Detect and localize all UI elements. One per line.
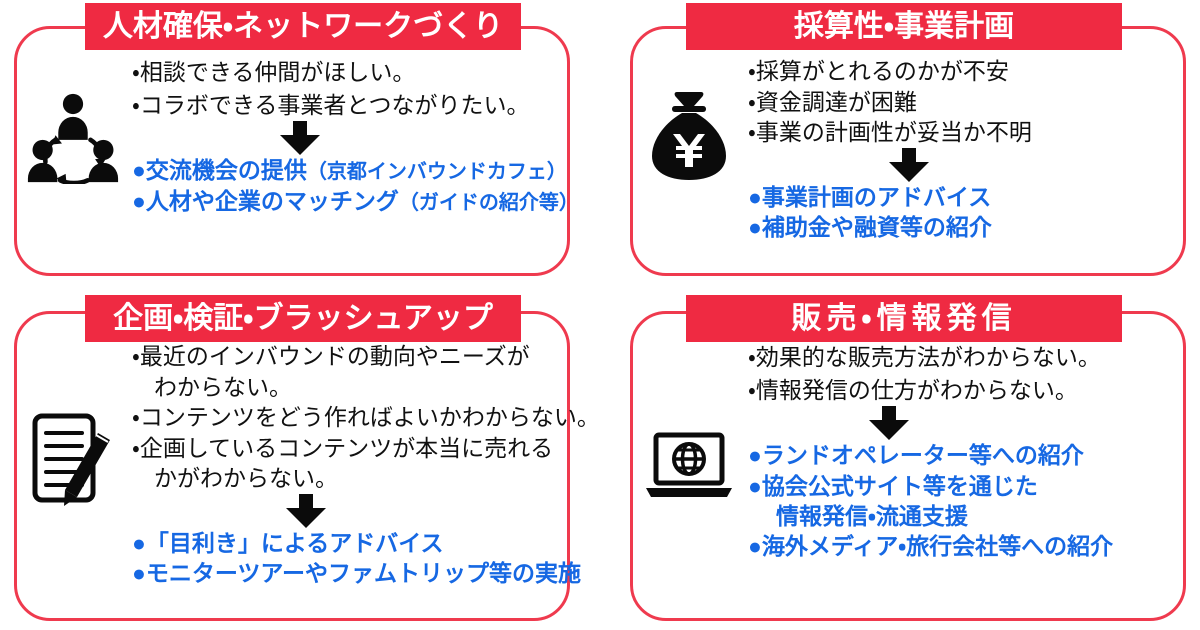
solution-main: ●「目利き」によるアドバイス xyxy=(132,530,444,556)
problem-list: ・効果的な販売方法がわからない。 ・情報発信の仕方がわからない。 xyxy=(748,341,1180,406)
panel-title-kikaku-kensho-brushup: 企画・検証・ブラッシュアップ xyxy=(85,295,521,342)
content-column: ・相談できる仲間がほしい。 ・コラボできる事業者とつながりたい。 ●交流機会の提… xyxy=(132,56,585,216)
panel-title-jinzai-network: 人材確保・ネットワークづくり xyxy=(85,3,521,50)
content-column: ・効果的な販売方法がわからない。 ・情報発信の仕方がわからない。 ●ランドオペレ… xyxy=(748,341,1186,562)
notepad-pencil-icon xyxy=(30,411,116,507)
solution-item: ●事業計画のアドバイス xyxy=(748,182,1180,212)
panel-body-hanbai-johohasshin: ・効果的な販売方法がわからない。 ・情報発信の仕方がわからない。 ●ランドオペレ… xyxy=(630,341,1186,562)
problem-item: ・企画しているコンテンツが本当に売れる xyxy=(132,433,600,464)
solution-item-continuation: 情報発信・流通支援 xyxy=(748,501,1180,531)
solution-list: ●交流機会の提供（京都インバウンドカフェ） ●人材や企業のマッチング（ガイドの紹… xyxy=(132,155,579,216)
solution-item: ●「目利き」によるアドバイス xyxy=(132,528,600,558)
problem-list: ・採算がとれるのかが不安 ・資金調達が困難 ・事業の計画性が妥当か不明 xyxy=(748,56,1180,148)
solution-list: ●「目利き」によるアドバイス ●モニターツアーやファムトリップ等の実施 xyxy=(132,528,600,589)
down-arrow-icon xyxy=(887,148,931,182)
solution-main: ●人材や企業のマッチング xyxy=(132,188,399,214)
problem-item: ・資金調達が困難 xyxy=(748,87,1180,118)
solution-main: 情報発信・流通支援 xyxy=(776,503,968,529)
problem-list: ・最近のインバウンドの動向やニーズが わからない。 ・コンテンツをどう作ればよい… xyxy=(132,341,600,494)
panel-body-jinzai-network: ・相談できる仲間がほしい。 ・コラボできる事業者とつながりたい。 ●交流機会の提… xyxy=(14,56,570,216)
problem-item: ・効果的な販売方法がわからない。 xyxy=(748,341,1180,374)
problem-item: ・コラボできる事業者とつながりたい。 xyxy=(132,89,579,122)
solution-main: ●交流機会の提供 xyxy=(132,157,307,183)
solution-item: ●交流機会の提供（京都インバウンドカフェ） xyxy=(132,155,579,185)
content-column: ・最近のインバウンドの動向やニーズが わからない。 ・コンテンツをどう作ればよい… xyxy=(132,341,606,589)
solution-main: ●ランドオペレーター等への紹介 xyxy=(748,442,1084,468)
problem-item-continuation: わからない。 xyxy=(132,372,600,403)
solution-main: ●協会公式サイト等を通じた xyxy=(748,473,1038,499)
solution-item: ●ランドオペレーター等への紹介 xyxy=(748,440,1180,470)
problem-item-continuation: かがわからない。 xyxy=(132,463,600,494)
problem-item: ・情報発信の仕方がわからない。 xyxy=(748,374,1180,407)
icon-column xyxy=(14,56,132,184)
down-arrow-icon xyxy=(278,121,322,155)
solution-main: ●事業計画のアドバイス xyxy=(748,184,991,210)
solution-item: ●補助金や融資等の紹介 xyxy=(748,212,1180,242)
arrow-row xyxy=(132,494,600,528)
people-network-icon xyxy=(27,92,119,184)
arrow-row xyxy=(132,121,579,155)
problem-list: ・相談できる仲間がほしい。 ・コラボできる事業者とつながりたい。 xyxy=(132,56,579,121)
panel-title-hanbai-johohasshin: 販売・情報発信 xyxy=(686,295,1122,342)
panel-body-saisansei-jigyokeikaku: ・採算がとれるのかが不安 ・資金調達が困難 ・事業の計画性が妥当か不明 ●事業計… xyxy=(630,56,1186,243)
solution-main: ●海外メディア・旅行会社等への紹介 xyxy=(748,533,1113,559)
icon-column xyxy=(630,341,748,503)
down-arrow-icon xyxy=(867,406,911,440)
solution-main: ●モニターツアーやファムトリップ等の実施 xyxy=(132,560,581,586)
problem-item: ・コンテンツをどう作ればよいかわからない。 xyxy=(132,402,600,433)
solution-list: ●ランドオペレーター等への紹介 ●協会公式サイト等を通じた 情報発信・流通支援 … xyxy=(748,440,1180,562)
problem-item: ・採算がとれるのかが不安 xyxy=(748,56,1180,87)
problem-item: ・相談できる仲間がほしい。 xyxy=(132,56,579,89)
arrow-row xyxy=(748,406,1180,440)
icon-column xyxy=(14,341,132,507)
solution-item: ●海外メディア・旅行会社等への紹介 xyxy=(748,531,1180,561)
arrow-row xyxy=(748,148,1180,182)
icon-column xyxy=(630,56,748,182)
laptop-globe-icon xyxy=(643,431,735,503)
problem-item: ・最近のインバウンドの動向やニーズが xyxy=(132,341,600,372)
problem-item: ・事業の計画性が妥当か不明 xyxy=(748,117,1180,148)
panel-title-saisansei-jigyokeikaku: 採算性・事業計画 xyxy=(686,3,1122,50)
solution-item: ●人材や企業のマッチング（ガイドの紹介等） xyxy=(132,186,579,216)
solution-main: ●補助金や融資等の紹介 xyxy=(748,214,992,240)
solution-list: ●事業計画のアドバイス ●補助金や融資等の紹介 xyxy=(748,182,1180,243)
down-arrow-icon xyxy=(284,494,328,528)
panel-body-kikaku-kensho-brushup: ・最近のインバウンドの動向やニーズが わからない。 ・コンテンツをどう作ればよい… xyxy=(14,341,570,589)
solution-item: ●協会公式サイト等を通じた xyxy=(748,471,1180,501)
infographic-board: 人材確保・ネットワークづくり xyxy=(0,0,1200,630)
money-bag-yen-icon xyxy=(649,90,729,182)
solution-note: （京都インバウンドカフェ） xyxy=(307,161,567,183)
solution-item: ●モニターツアーやファムトリップ等の実施 xyxy=(132,558,600,588)
content-column: ・採算がとれるのかが不安 ・資金調達が困難 ・事業の計画性が妥当か不明 ●事業計… xyxy=(748,56,1186,243)
solution-note: （ガイドの紹介等） xyxy=(399,192,579,214)
